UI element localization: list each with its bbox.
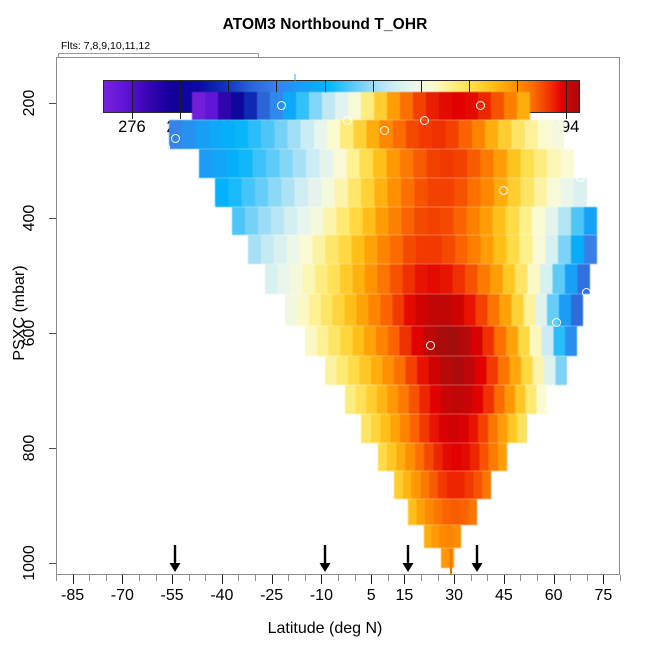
x-axis-tick-minor (520, 575, 521, 581)
x-axis-tick-minor (338, 575, 339, 581)
x-axis-tick-minor (156, 575, 157, 581)
x-axis-tick-minor (388, 575, 389, 581)
heatmap-canvas[interactable] (56, 57, 620, 575)
x-axis-tick-major (272, 575, 273, 584)
flight-track-arrow (401, 545, 415, 573)
x-axis-tick-label: 45 (495, 587, 513, 605)
flight-track-arrow (470, 545, 484, 573)
x-axis-tick-minor (238, 575, 239, 581)
x-axis-tick-major (122, 575, 123, 584)
x-axis-tick-label: 75 (595, 587, 613, 605)
x-axis-tick-label: -85 (61, 587, 84, 605)
flights-annotation: Flts: 7,8,9,10,11,12 (61, 40, 150, 52)
x-axis-tick-minor (305, 575, 306, 581)
y-axis-tick (49, 103, 56, 104)
data-point-marker[interactable] (576, 173, 585, 182)
data-point-marker[interactable] (161, 143, 170, 152)
heatmap-row (378, 443, 507, 472)
x-axis-tick-major (73, 575, 74, 584)
y-axis-tick (49, 563, 56, 564)
x-axis-tick-minor (487, 575, 488, 581)
heatmap-row (169, 120, 564, 149)
heatmap-row (305, 326, 577, 356)
page-title: ATOM3 Northbound T_OHR (0, 16, 650, 34)
heatmap-row (285, 294, 584, 326)
x-axis-tick-minor (189, 575, 190, 581)
y-axis-tick (49, 333, 56, 334)
x-axis-tick-label: 5 (367, 587, 376, 605)
flight-track-arrow (318, 545, 332, 573)
data-point-marker[interactable] (420, 116, 429, 125)
x-axis-tick-major (371, 575, 372, 584)
x-axis-tick-minor (255, 575, 256, 581)
y-axis-tick-label: 200 (21, 83, 39, 123)
x-axis-tick-minor (355, 575, 356, 581)
x-axis-tick-minor (471, 575, 472, 581)
x-axis-tick-label: -70 (111, 587, 134, 605)
x-axis-tick-minor (570, 575, 571, 581)
y-axis-title: PSXC (mbar) (11, 248, 29, 378)
x-axis-tick-major (554, 575, 555, 584)
x-axis-tick-minor (288, 575, 289, 581)
data-spike (294, 74, 296, 103)
heatmap-row (394, 471, 490, 499)
flight-track-arrow (168, 545, 182, 573)
x-axis-tick-label: -55 (161, 587, 184, 605)
x-axis-tick-major (404, 575, 405, 584)
x-axis-tick-label: -10 (310, 587, 333, 605)
heatmap-row (265, 264, 590, 294)
y-axis-tick-label: 800 (21, 428, 39, 468)
x-axis-title: Latitude (deg N) (0, 620, 650, 638)
heatmap-row (408, 499, 478, 525)
x-axis-tick-minor (537, 575, 538, 581)
y-axis-tick (49, 218, 56, 219)
x-axis-tick-major (222, 575, 223, 584)
x-axis-tick-label: 15 (395, 587, 413, 605)
heatmap-row (424, 525, 460, 547)
x-axis-tick-label: 30 (445, 587, 463, 605)
profile-marker-line (450, 549, 452, 575)
y-axis-tick (49, 448, 56, 449)
x-axis-tick-label: -25 (260, 587, 283, 605)
x-axis-tick-minor (89, 575, 90, 581)
x-axis-tick-major (454, 575, 455, 584)
heatmap-row (248, 235, 596, 264)
y-axis-tick-label: 400 (21, 198, 39, 238)
x-axis-tick-major (172, 575, 173, 584)
heatmap-row (199, 149, 574, 178)
x-axis-tick-major (321, 575, 322, 584)
x-axis-tick-minor (106, 575, 107, 581)
x-axis-tick-minor (421, 575, 422, 581)
x-axis-tick-minor (620, 575, 621, 581)
x-axis-tick-minor (205, 575, 206, 581)
plot-root: ATOM3 Northbound T_OHR Flts: 7,8,9,10,11… (0, 0, 650, 650)
x-axis-tick-minor (56, 575, 57, 581)
x-axis-tick-major (504, 575, 505, 584)
x-axis-tick-minor (438, 575, 439, 581)
heatmap-row (441, 548, 454, 568)
heatmap-row (215, 178, 587, 207)
heatmap-row (361, 414, 527, 443)
x-axis-tick-minor (139, 575, 140, 581)
data-point-marker[interactable] (582, 288, 591, 297)
x-axis-tick-label: -40 (210, 587, 233, 605)
heatmap-row (325, 356, 567, 385)
heatmap-row (232, 207, 597, 236)
x-axis-tick-minor (587, 575, 588, 581)
heatmap-row (345, 385, 547, 414)
x-axis-tick-major (603, 575, 604, 584)
x-axis-tick-label: 60 (545, 587, 563, 605)
y-axis-tick-label: 1000 (21, 543, 39, 583)
